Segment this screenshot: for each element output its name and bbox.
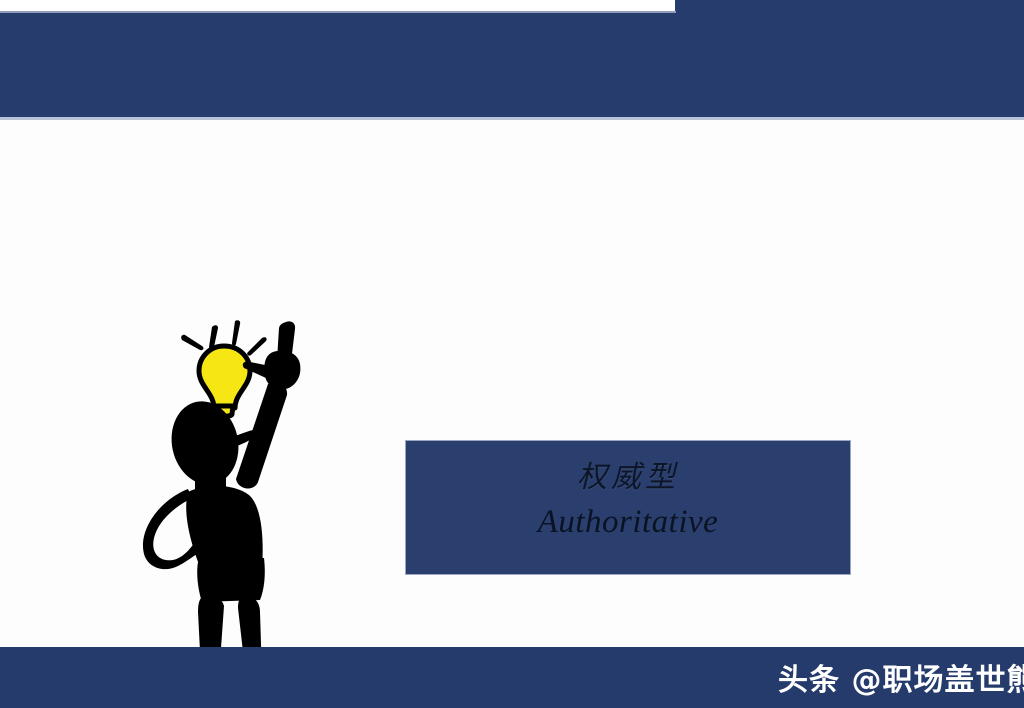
slide-canvas: 权威型 Authoritative 头条 @职场盖世熊 <box>0 0 1024 708</box>
watermark-text: 头条 @职场盖世熊 <box>778 655 1024 699</box>
figure-hips <box>197 558 265 602</box>
title-english: Authoritative <box>538 501 719 544</box>
top-banner-right-segment <box>675 0 1024 119</box>
pointing-arm-and-hand <box>236 321 300 488</box>
title-plaque: 权威型 Authoritative <box>405 440 851 575</box>
slide-content-area: 权威型 Authoritative <box>0 120 1024 647</box>
title-chinese: 权威型 <box>577 459 679 497</box>
top-banner-left-segment <box>0 11 676 121</box>
